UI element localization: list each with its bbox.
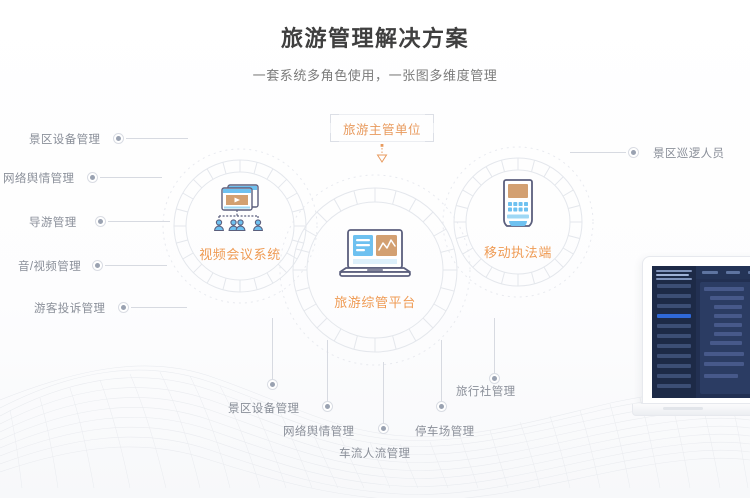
- side-label-bottom-0: 景区设备管理: [228, 400, 299, 416]
- node-video-conference[interactable]: 视频会议系统: [180, 182, 300, 263]
- connector-dot-left-2: [95, 216, 106, 227]
- mock-sidebar-item-active: [657, 314, 691, 318]
- mock-sidebar-item: [657, 334, 691, 338]
- dashboard-laptop-mockup: [632, 256, 750, 456]
- mock-row: [714, 314, 742, 318]
- connector-line-left-1: [100, 177, 162, 178]
- connector-dot-bottom-2: [378, 423, 389, 434]
- side-label-right-0: 景区巡逻人员: [653, 145, 724, 161]
- box-edge-right: [433, 123, 434, 133]
- mock-sidebar-item: [657, 284, 691, 288]
- connector-dot-bottom-1: [322, 401, 333, 412]
- side-label-bottom-1: 网络舆情管理: [283, 423, 354, 439]
- page-title: 旅游管理解决方案: [0, 24, 750, 54]
- connector-dot-left-0: [113, 133, 124, 144]
- node-label-mobile-enforcement: 移动执法端: [458, 242, 578, 261]
- node-label-platform: 旅游综管平台: [315, 292, 435, 311]
- mobile-device-icon: [493, 178, 543, 236]
- mock-topbar: [696, 266, 750, 279]
- connector-line-left-4: [131, 307, 187, 308]
- mock-sidebar-item: [657, 374, 691, 378]
- box-edge-top: [339, 114, 425, 115]
- solution-diagram-canvas: 旅游管理解决方案 一套系统多角色使用，一张图多维度管理: [0, 0, 750, 498]
- connector-line-bottom-0: [272, 318, 273, 380]
- node-mobile-enforcement[interactable]: 移动执法端: [458, 178, 578, 261]
- authority-unit-box[interactable]: 旅游主管单位: [330, 114, 434, 142]
- connector-line-left-0: [126, 138, 188, 139]
- mock-sidebar-item: [657, 364, 691, 368]
- connector-line-bottom-3: [441, 340, 442, 402]
- video-conference-icon: [208, 182, 272, 238]
- box-edge-bottom: [339, 141, 425, 142]
- connector-line-bottom-2: [383, 362, 384, 424]
- mock-sidebar-item: [657, 384, 691, 388]
- side-label-left-1: 网络舆情管理: [3, 170, 74, 186]
- authority-unit-label: 旅游主管单位: [343, 119, 421, 138]
- header: 旅游管理解决方案 一套系统多角色使用，一张图多维度管理: [0, 24, 750, 84]
- dashboard-ui-preview: [652, 266, 750, 398]
- mock-sidebar-item: [657, 304, 691, 308]
- side-label-bottom-3: 停车场管理: [415, 423, 475, 439]
- laptop-platform-icon: [334, 228, 416, 286]
- side-label-left-0: 景区设备管理: [29, 131, 100, 147]
- mock-content-panel: [700, 282, 750, 394]
- mock-row: [714, 305, 742, 309]
- mock-sidebar-item: [657, 354, 691, 358]
- side-label-bottom-4: 旅行社管理: [456, 383, 516, 399]
- connector-dot-left-1: [87, 172, 98, 183]
- mock-sidebar: [652, 266, 696, 398]
- side-label-left-2: 导游管理: [29, 214, 77, 230]
- connector-dot-left-3: [92, 260, 103, 271]
- mock-sidebar-item: [657, 324, 691, 328]
- node-label-video-conference: 视频会议系统: [180, 244, 300, 263]
- mock-row: [710, 341, 742, 345]
- mock-brand-logo: [656, 270, 692, 279]
- mock-row: [704, 374, 738, 378]
- mock-row: [714, 323, 742, 327]
- corner-mark-bl: [330, 133, 339, 142]
- mock-sidebar-item: [657, 294, 691, 298]
- side-label-bottom-2: 车流人流管理: [339, 445, 410, 461]
- laptop-base: [632, 404, 750, 416]
- down-triangle-arrow-icon: [370, 144, 394, 168]
- mock-row: [714, 332, 742, 336]
- connector-line-bottom-1: [327, 340, 328, 402]
- mock-row: [704, 352, 744, 356]
- connector-dot-left-4: [118, 302, 129, 313]
- connector-line-left-2: [108, 221, 170, 222]
- connector-dot-right-0: [628, 147, 639, 158]
- side-label-left-4: 游客投诉管理: [34, 300, 105, 316]
- laptop-screen: [642, 256, 750, 404]
- page-subtitle: 一套系统多角色使用，一张图多维度管理: [0, 65, 750, 84]
- mock-row: [710, 296, 744, 300]
- corner-mark-tl: [330, 114, 339, 123]
- corner-mark-br: [425, 133, 434, 142]
- connector-line-left-3: [105, 265, 167, 266]
- corner-mark-tr: [425, 114, 434, 123]
- node-platform[interactable]: 旅游综管平台: [315, 228, 435, 311]
- connector-dot-bottom-0: [267, 379, 278, 390]
- mock-row: [704, 362, 744, 366]
- connector-line-bottom-4: [494, 318, 495, 374]
- connector-line-right-0: [570, 152, 626, 153]
- side-label-left-3: 音/视频管理: [18, 258, 81, 274]
- box-edge-left: [330, 123, 331, 133]
- connector-dot-bottom-3: [436, 401, 447, 412]
- mock-sidebar-item: [657, 344, 691, 348]
- mock-row: [704, 287, 744, 291]
